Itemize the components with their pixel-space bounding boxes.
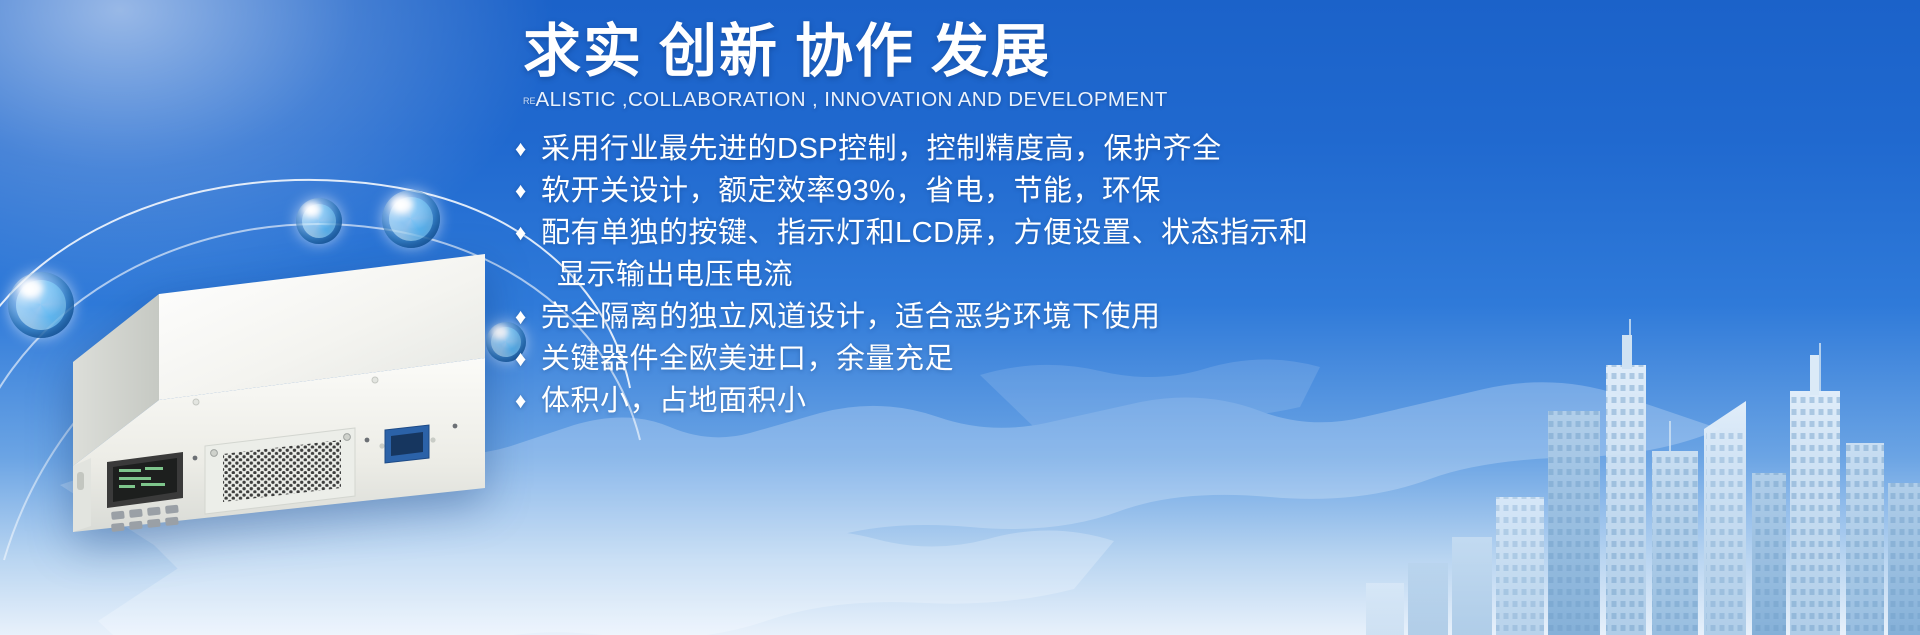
db9-screw-right <box>430 437 435 442</box>
list-item: ♦ 软开关设计，额定效率93%，省电，节能，环保 <box>515 170 1515 212</box>
headline-word-1: 求实 <box>523 19 643 84</box>
feature-text: 采用行业最先进的DSP控制，控制精度高，保护齐全 <box>541 128 1222 170</box>
bullet-diamond-icon: ♦ <box>515 296 541 338</box>
feature-text: 软开关设计，额定效率93%，省电，节能，环保 <box>541 170 1161 212</box>
db9-connector-inner <box>391 432 423 456</box>
list-item: ♦ 采用行业最先进的DSP控制，控制精度高，保护齐全 <box>515 128 1515 170</box>
bullet-diamond-icon: ♦ <box>515 128 541 170</box>
list-item: ♦ 配有单独的按键、指示灯和LCD屏，方便设置、状态指示和 <box>515 212 1515 254</box>
status-led-2 <box>365 438 370 443</box>
bullet-diamond-icon: ♦ <box>515 338 541 380</box>
feature-text: 完全隔离的独立风道设计，适合恶劣环境下使用 <box>541 296 1161 338</box>
top-screw-1 <box>193 399 199 405</box>
globe-bead-2 <box>296 198 342 244</box>
rack-ear <box>73 458 91 532</box>
globe-bead-3 <box>382 190 440 248</box>
subtitle: REALISTIC ,COLLABORATION , INNOVATION AN… <box>515 88 1515 112</box>
db9-screw-left <box>379 443 384 448</box>
rack-mount-power-supply <box>55 250 485 540</box>
status-led-1 <box>193 456 198 461</box>
feature-text: 配有单独的按键、指示灯和LCD屏，方便设置、状态指示和 <box>541 212 1309 254</box>
bullet-diamond-icon: ♦ <box>515 170 541 212</box>
list-item: ♦ 体积小，占地面积小 <box>515 380 1515 422</box>
promo-banner: 求实创新协作发展 REALISTIC ,COLLABORATION , INNO… <box>0 0 1920 635</box>
banner-content: 求实创新协作发展 REALISTIC ,COLLABORATION , INNO… <box>515 18 1515 422</box>
feature-text: 体积小，占地面积小 <box>541 380 807 422</box>
status-led-3 <box>453 424 458 429</box>
top-screw-2 <box>372 377 378 383</box>
headline-word-2: 创新 <box>659 19 779 84</box>
panel-screw-left <box>211 450 218 457</box>
list-item: ♦ 完全隔离的独立风道设计，适合恶劣环境下使用 <box>515 296 1515 338</box>
feature-text: 关键器件全欧美进口，余量充足 <box>541 338 954 380</box>
panel-screw-right <box>344 434 351 441</box>
bullet-diamond-icon: ♦ <box>515 380 541 422</box>
rack-ear-slot <box>77 472 84 490</box>
feature-text: 显示输出电压电流 <box>541 254 793 296</box>
headline-word-4: 发展 <box>931 19 1051 84</box>
list-item-continuation: ♦ 显示输出电压电流 <box>515 254 1515 296</box>
subtitle-text: ALISTIC ,COLLABORATION , INNOVATION AND … <box>536 88 1168 111</box>
list-item: ♦ 关键器件全欧美进口，余量充足 <box>515 338 1515 380</box>
headline-word-3: 协作 <box>795 19 915 84</box>
page-title: 求实创新协作发展 <box>515 18 1515 86</box>
feature-list: ♦ 采用行业最先进的DSP控制，控制精度高，保护齐全 ♦ 软开关设计，额定效率9… <box>515 128 1515 422</box>
subtitle-prefix: RE <box>523 96 536 106</box>
bullet-diamond-icon: ♦ <box>515 212 541 254</box>
